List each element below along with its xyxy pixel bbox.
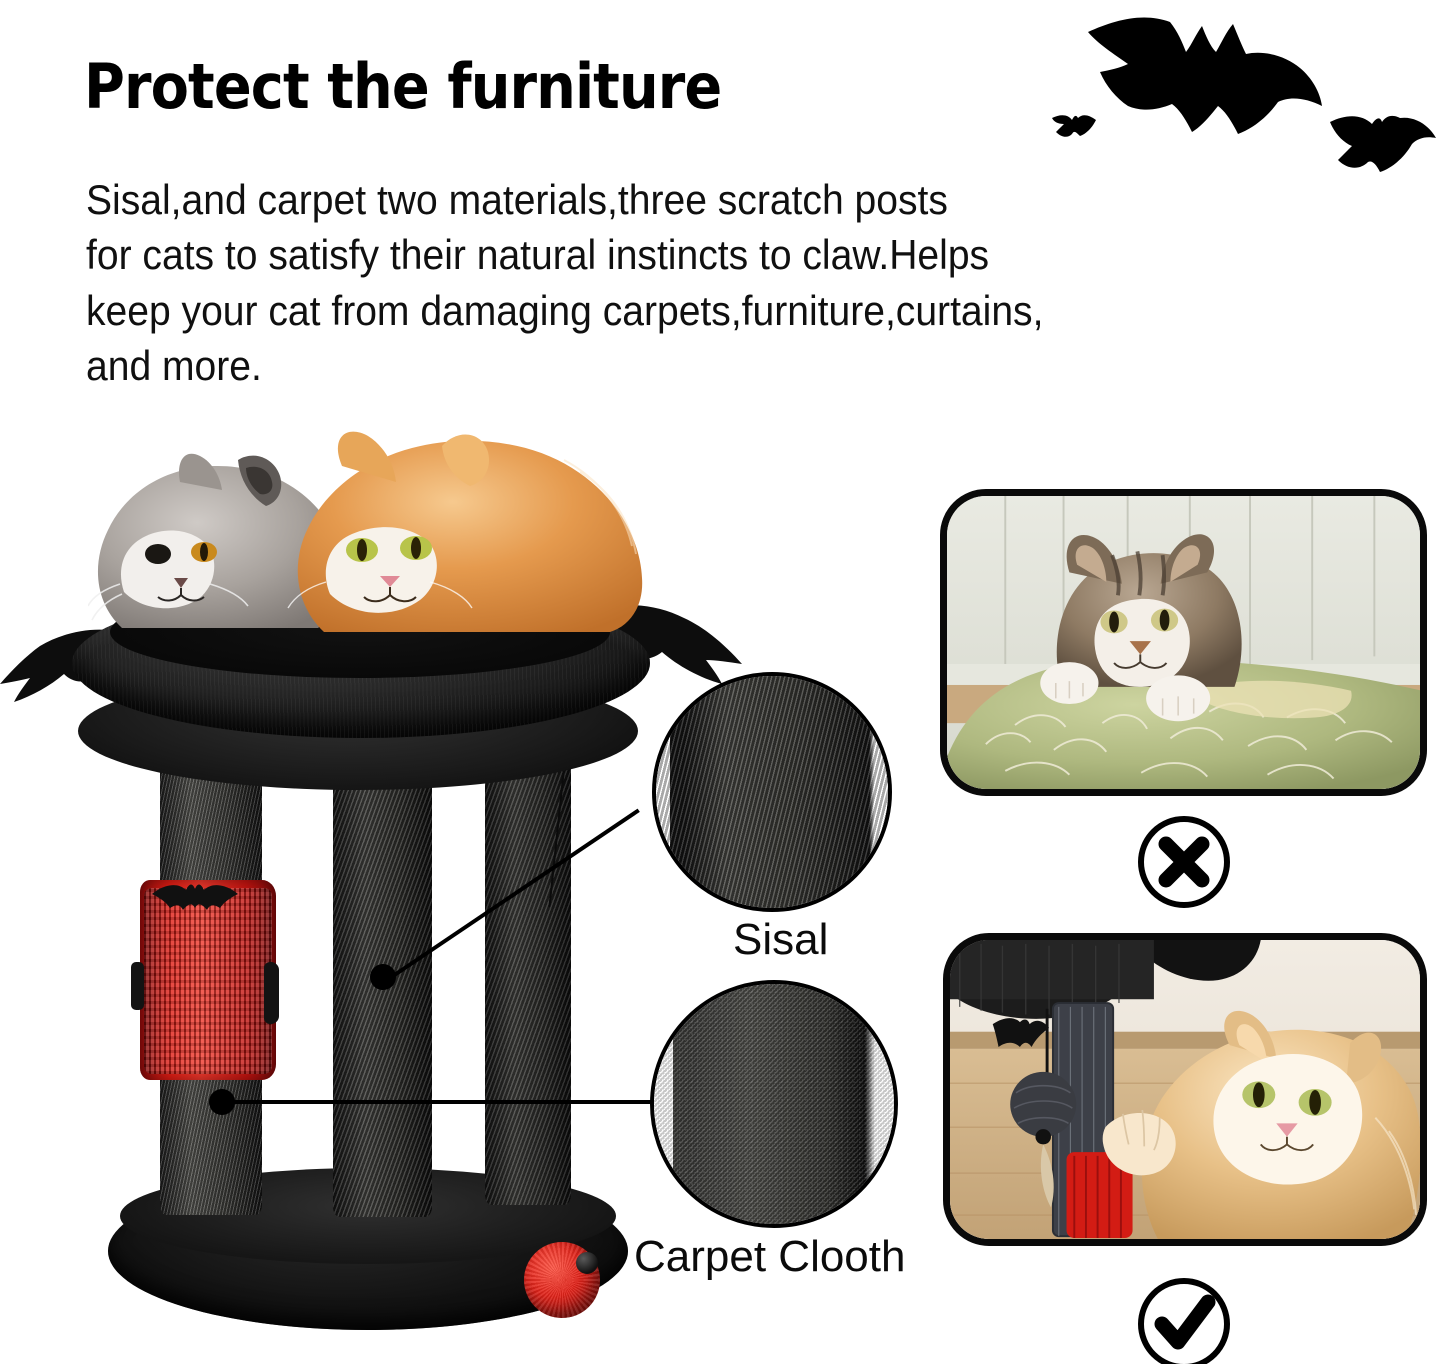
cross-circle-icon bbox=[1136, 814, 1232, 910]
sisal-rope-texture bbox=[656, 676, 888, 908]
photo-cat-using-tree bbox=[943, 933, 1427, 1246]
brush-clip-left bbox=[131, 962, 144, 1010]
bat-icon bbox=[1086, 6, 1324, 144]
check-circle-icon bbox=[1136, 1276, 1232, 1364]
callout-swatch-sisal bbox=[652, 672, 892, 912]
bat-icon bbox=[1330, 114, 1436, 184]
description-paragraph: Sisal,and carpet two materials,three scr… bbox=[86, 172, 1239, 394]
product-infographic: Protect the furniture Sisal,and carpet t… bbox=[0, 0, 1445, 1364]
orange-fluffy-cat bbox=[280, 424, 650, 636]
callout-label-carpet: Carpet Clooth bbox=[634, 1232, 905, 1282]
page-title: Protect the furniture bbox=[84, 56, 721, 118]
callout-label-sisal: Sisal bbox=[733, 915, 828, 965]
toy-bell bbox=[576, 1252, 598, 1274]
photo-damaged-sofa bbox=[940, 489, 1427, 796]
carpet-cloth-texture bbox=[654, 984, 894, 1224]
cat-tree-illustration bbox=[0, 410, 700, 1350]
callout-swatch-carpet bbox=[650, 980, 898, 1228]
brush-clip-right bbox=[264, 962, 279, 1024]
leader-line-carpet bbox=[228, 1100, 663, 1104]
bat-icon bbox=[152, 882, 238, 924]
bat-icon bbox=[1052, 112, 1096, 148]
